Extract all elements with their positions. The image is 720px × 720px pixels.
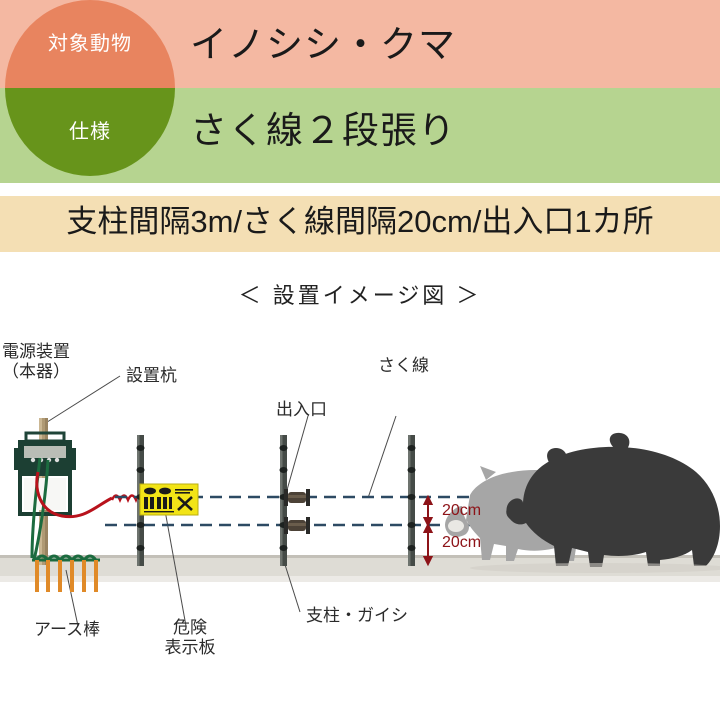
badge-spec: 仕様	[5, 88, 175, 176]
spec-detail-text: 支柱間隔3m/さく線間隔20cm/出入口1カ所	[0, 206, 720, 237]
infographic-page: 対象動物 仕様 イノシシ・クマ さく線２段張り 支柱間隔3m/さく線間隔20cm…	[0, 0, 720, 720]
figure-caption: ＜ 設置イメージ図 ＞	[0, 278, 720, 310]
dimension-arrows	[425, 497, 432, 564]
gate-insulators	[284, 489, 310, 534]
label-power-unit: 電源装置 （本器）	[2, 342, 70, 381]
diagram-svg	[0, 320, 720, 720]
label-gate: 出入口	[276, 400, 327, 420]
label-earth-rod: アース棒	[34, 620, 100, 640]
category-badge: 対象動物 仕様	[5, 0, 175, 176]
spec-title: さく線２段張り	[190, 112, 456, 149]
label-fence-wire: さく線	[378, 356, 429, 376]
label-post-stake: 設置杭	[126, 366, 177, 386]
badge-animal-label: 対象動物	[48, 34, 132, 54]
gate-insulator-top	[284, 489, 310, 506]
danger-sign	[140, 484, 198, 515]
badge-spec-label: 仕様	[69, 122, 111, 142]
label-danger-sign: 危険 表示板	[160, 618, 220, 657]
animal-title: イノシシ・クマ	[190, 26, 456, 63]
dimension-label-upper: 20cm	[442, 503, 481, 519]
gate-insulator-bottom	[284, 517, 310, 534]
badge-animal: 対象動物	[5, 0, 175, 88]
fence-post-3	[408, 435, 416, 566]
animal-shadow	[470, 563, 720, 573]
installation-diagram: 電源装置 （本器） 設置杭 出入口 さく線 アース棒 危険 表示板 支柱・ガイシ…	[0, 320, 720, 720]
label-post-insulator: 支柱・ガイシ	[306, 606, 408, 626]
dimension-label-lower: 20cm	[442, 535, 481, 551]
